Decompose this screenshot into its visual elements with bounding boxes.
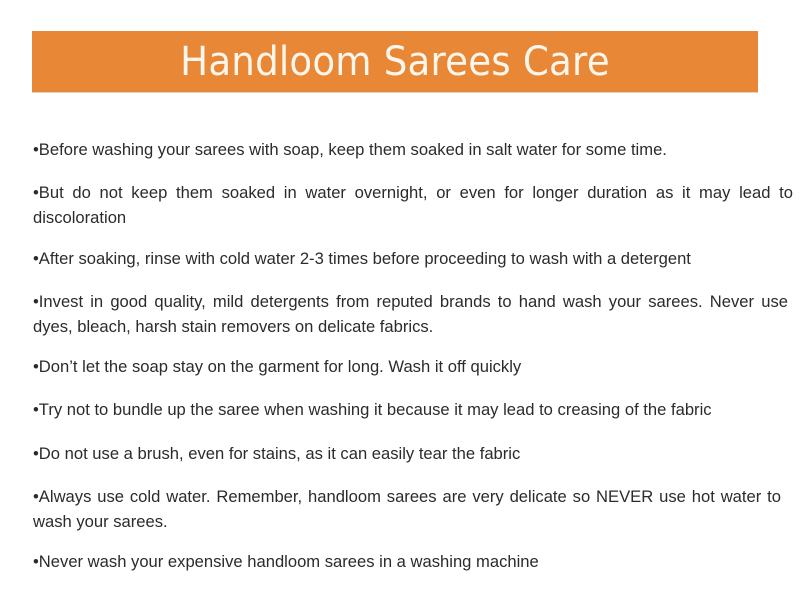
bullet-list: •Before washing your sarees with soap, k… bbox=[0, 108, 800, 588]
list-item: •Never wash your expensive handloom sare… bbox=[33, 549, 793, 574]
slide: Handloom Sarees Care •Before washing you… bbox=[0, 0, 800, 600]
list-item: •After soaking, rinse with cold water 2-… bbox=[33, 246, 793, 271]
list-item: •But do not keep them soaked in water ov… bbox=[33, 180, 793, 230]
title-banner: Handloom Sarees Care bbox=[32, 31, 758, 92]
list-item: •Invest in good quality, mild detergents… bbox=[33, 289, 788, 339]
list-item: •Always use cold water. Remember, handlo… bbox=[33, 484, 781, 534]
list-item: •Don’t let the soap stay on the garment … bbox=[33, 354, 793, 379]
page-title: Handloom Sarees Care bbox=[180, 42, 610, 82]
list-item: •Before washing your sarees with soap, k… bbox=[33, 137, 793, 162]
list-item: •Do not use a brush, even for stains, as… bbox=[33, 441, 793, 466]
list-item: •Try not to bundle up the saree when was… bbox=[33, 397, 793, 422]
